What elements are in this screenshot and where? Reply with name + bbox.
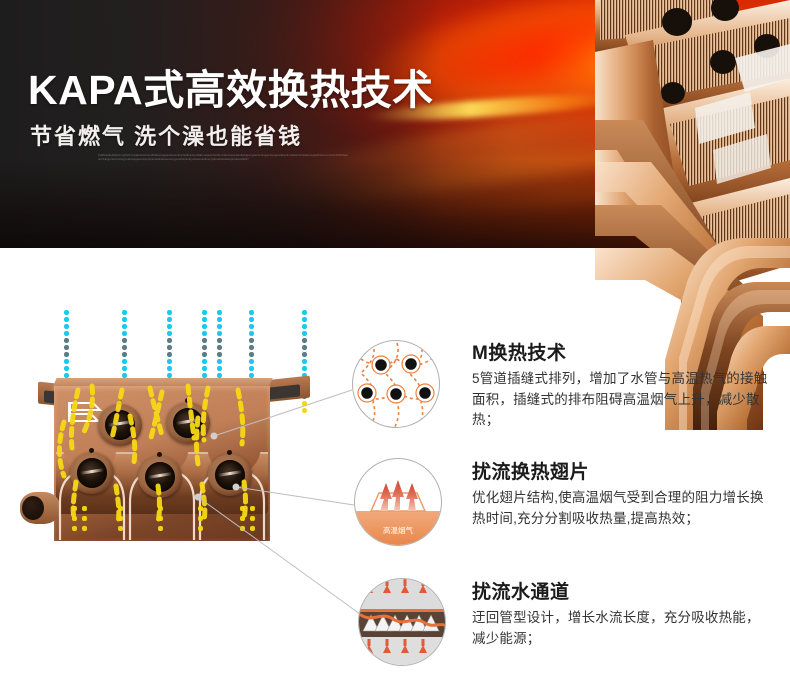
feature-2-body: 优化翅片结构,使高温烟气受到合理的阻力增长换热时间,充分分割吸收热量,提高热效； (472, 488, 772, 529)
feature-block-3: 扰流水通道 迂回管型设计，增长水流长度，充分吸收热能，减少能源； (472, 577, 772, 649)
pipe-port-4 (138, 456, 182, 498)
feature-1-body: 5管道插缝式排列，增加了水管与高温热气的接触面积，插缝式的排布阻碍高温烟气上升，… (472, 369, 772, 431)
hot-gas-svg: 高温烟气 (355, 459, 441, 545)
pipe-port-3 (70, 452, 114, 494)
banner-title: KAPA式高效换热技术 (28, 70, 434, 111)
pipe-port-2 (166, 402, 210, 444)
feature-2-title: 扰流换热翅片 (472, 457, 772, 484)
diagram-five-pipe-cross-section (352, 340, 440, 428)
banner-microcopy: KAPAistdieAbkürzungfürKompaktAluminiumPl… (98, 154, 348, 162)
water-channel-svg (359, 579, 445, 665)
pipe-port-1 (98, 404, 142, 446)
diagram-turbulent-water-channel (358, 578, 446, 666)
feature-3-body: 迂回管型设计，增长水流长度，充分吸收热能，减少能源； (472, 608, 772, 649)
feature-block-1: M换热技术 5管道插缝式排列，增加了水管与高温热气的接触面积，插缝式的排布阻碍高… (472, 338, 772, 431)
banner-subtitle: 节省燃气 洗个澡也能省钱 (30, 126, 302, 148)
feature-block-2: 扰流换热翅片 优化翅片结构,使高温烟气受到合理的阻力增长换热时间,充分分割吸收热… (472, 457, 772, 529)
feature-3-title: 扰流水通道 (472, 577, 772, 604)
product-feature-page: KAPA式高效换热技术 节省燃气 洗个澡也能省钱 KAPAistdieAbkür… (0, 0, 790, 687)
hot-gas-label: 高温烟气 (383, 525, 413, 535)
pipe-port-5 (208, 454, 252, 496)
feature-1-title: M换热技术 (472, 338, 772, 365)
diagram-hot-gas-rising-fins: 高温烟气 (354, 458, 442, 546)
copper-heat-exchanger-cutaway (12, 356, 312, 551)
five-pipe-svg (353, 341, 439, 427)
